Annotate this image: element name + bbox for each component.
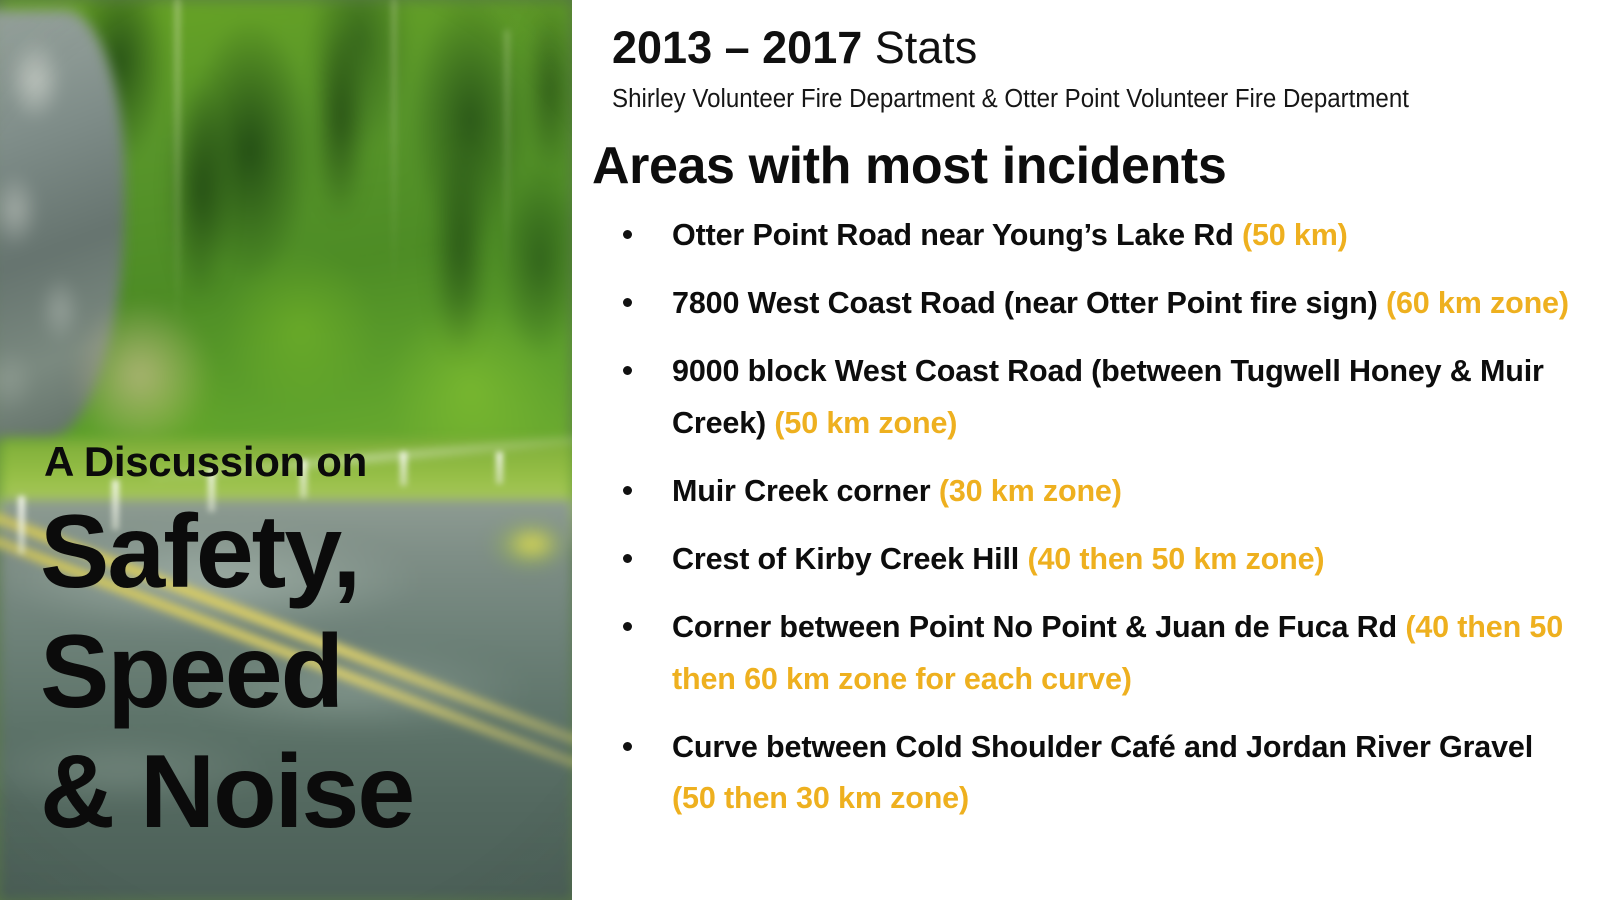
stats-content-panel: 2013 – 2017 Stats Shirley Volunteer Fire… [572, 0, 1600, 900]
title-year-range: 2013 – 2017 [612, 22, 862, 73]
bullet-zone-label: (30 km zone) [939, 474, 1122, 508]
bullet-text: 7800 West Coast Road (near Otter Point f… [672, 286, 1386, 320]
list-item: Muir Creek corner (30 km zone) [600, 466, 1585, 517]
bullet-zone-label: (50 km zone) [774, 406, 957, 440]
bullet-text: Curve between Cold Shoulder Café and Jor… [672, 730, 1533, 764]
incident-areas-list: Otter Point Road near Young’s Lake Rd (5… [600, 210, 1585, 841]
list-item: Corner between Point No Point & Juan de … [600, 602, 1585, 704]
section-heading: Areas with most incidents [592, 136, 1226, 196]
list-item: Crest of Kirby Creek Hill (40 then 50 km… [600, 534, 1585, 585]
caption-line-speed: Speed [40, 620, 342, 724]
bullet-zone-label: (40 then 50 km zone) [1027, 542, 1324, 576]
caption-line-safety: Safety, [40, 500, 359, 604]
bullet-zone-label: (50 then 30 km zone) [672, 781, 969, 815]
list-item: 9000 block West Coast Road (between Tugw… [600, 346, 1585, 448]
bullet-text: Muir Creek corner [672, 474, 939, 508]
title-stats-word: Stats [862, 22, 977, 73]
list-item: Curve between Cold Shoulder Café and Jor… [600, 722, 1585, 824]
list-item: Otter Point Road near Young’s Lake Rd (5… [600, 210, 1585, 261]
bullet-text: Crest of Kirby Creek Hill [672, 542, 1027, 576]
presentation-slide: A Discussion on Safety, Speed & Noise 20… [0, 0, 1600, 900]
list-item: 7800 West Coast Road (near Otter Point f… [600, 278, 1585, 329]
bullet-text: Otter Point Road near Young’s Lake Rd [672, 218, 1242, 252]
slide-subtitle: Shirley Volunteer Fire Department & Otte… [612, 85, 1409, 114]
title-photo-panel: A Discussion on Safety, Speed & Noise [0, 0, 572, 900]
caption-line-discussion: A Discussion on [44, 441, 367, 483]
caption-line-noise: & Noise [40, 740, 413, 844]
slide-title: 2013 – 2017 Stats [612, 24, 977, 71]
bullet-zone-label: (60 km zone) [1386, 286, 1569, 320]
photo-caption-overlay: A Discussion on Safety, Speed & Noise [0, 0, 572, 900]
bullet-text: Corner between Point No Point & Juan de … [672, 610, 1405, 644]
bullet-zone-label: (50 km) [1242, 218, 1348, 252]
